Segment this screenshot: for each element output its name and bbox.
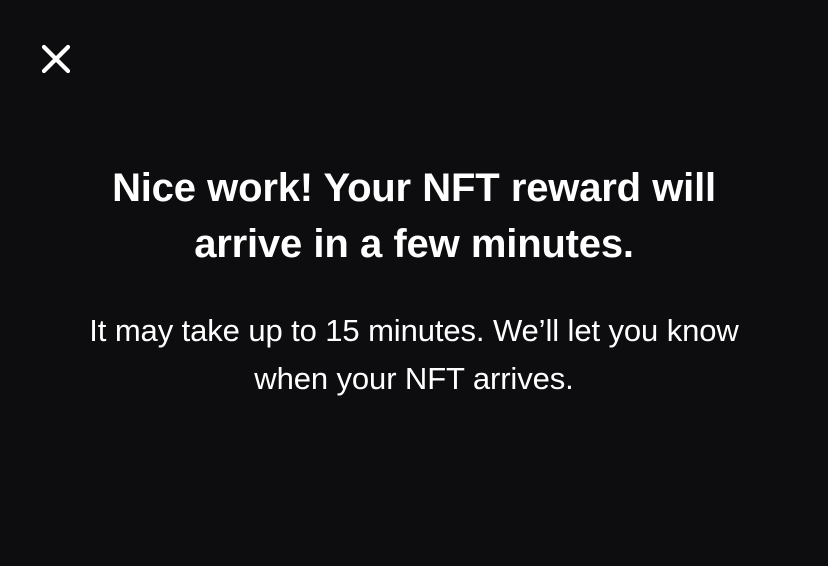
page-title: Nice work! Your NFT reward will arrive i… [64, 160, 764, 272]
message-block: Nice work! Your NFT reward will arrive i… [0, 0, 828, 403]
status-description: It may take up to 15 minutes. We’ll let … [49, 307, 779, 403]
nft-reward-confirmation-screen: Nice work! Your NFT reward will arrive i… [0, 0, 828, 566]
